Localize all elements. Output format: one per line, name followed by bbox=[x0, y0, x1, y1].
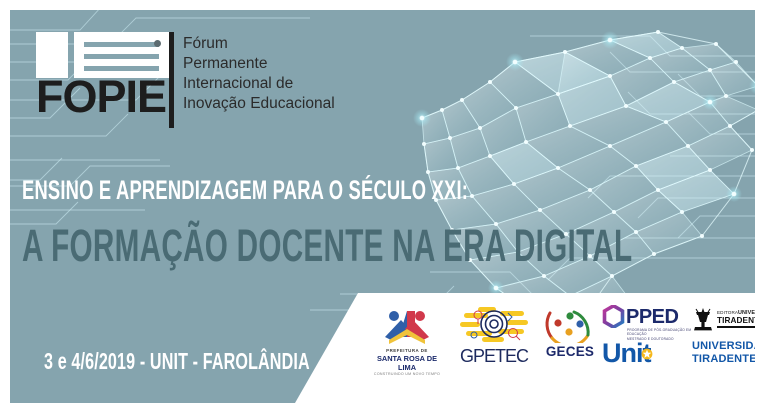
fopie-logo-mark: FOPIE bbox=[36, 32, 169, 118]
logo-divider bbox=[169, 32, 174, 128]
sponsor-logos: PREFEITURA DE SANTA ROSA DE LIMA CONSTRU… bbox=[362, 301, 755, 401]
prefeitura-line-3: CONSTRUINDO UM NOVO TEMPO bbox=[368, 372, 446, 377]
editora-big-line: TIRADENTES bbox=[717, 316, 755, 325]
fopie-name-line-3: Internacional de bbox=[183, 74, 335, 94]
sponsor-geces: GECES bbox=[534, 307, 606, 359]
fopie-name-line-1: Fórum bbox=[183, 34, 335, 54]
gpetec-wordmark: GPETEC bbox=[454, 346, 534, 367]
fopie-name-line-4: Inovação Educacional bbox=[183, 94, 335, 114]
headline-block: ENSINO E APRENDIZAGEM PARA O SÉCULO XXI:… bbox=[22, 175, 492, 271]
unit-star-icon bbox=[641, 337, 653, 349]
fopie-logo: FOPIE Fórum Permanente Internacional de … bbox=[36, 32, 335, 128]
editora-press-icon bbox=[692, 307, 714, 331]
geces-people-circle-icon bbox=[544, 307, 596, 343]
pped-hexagon-icon bbox=[602, 305, 625, 328]
sponsor-prefeitura-santa-rosa-de-lima: PREFEITURA DE SANTA ROSA DE LIMA CONSTRU… bbox=[368, 307, 446, 377]
geces-wordmark: GECES bbox=[534, 344, 606, 359]
fopie-wordmark: FOPIE bbox=[36, 76, 169, 118]
headline-line-2: A FORMAÇÃO DOCENTE NA ERA DIGITAL bbox=[22, 221, 332, 271]
event-dateline: 3 e 4/6/2019 - UNIT - FAROLÂNDIA bbox=[44, 348, 310, 375]
universidade-line-1: UNIVERSIDADE bbox=[692, 340, 755, 353]
sponsor-editora-universitaria-tiradentes: EDITORAUNIVERSITÁRIA TIRADENTES UNIVERSI… bbox=[692, 307, 755, 365]
editora-rule bbox=[717, 326, 755, 327]
universidade-line-2: TIRADENTES bbox=[692, 353, 755, 366]
universidade-tiradentes-name: UNIVERSIDADE TIRADENTES bbox=[692, 340, 755, 365]
poster-canvas: FOPIE Fórum Permanente Internacional de … bbox=[0, 0, 765, 413]
document-lines-icon bbox=[36, 32, 169, 78]
prefeitura-line-2: SANTA ROSA DE LIMA bbox=[368, 354, 446, 372]
fopie-full-name: Fórum Permanente Internacional de Inovaç… bbox=[183, 32, 335, 114]
pped-wordmark: PPED bbox=[626, 307, 678, 327]
headline-line-1: ENSINO E APRENDIZAGEM PARA O SÉCULO XXI: bbox=[22, 175, 342, 205]
unit-wordmark: Unit bbox=[602, 339, 650, 367]
fopie-name-line-2: Permanente bbox=[183, 54, 335, 74]
prefeitura-people-icon bbox=[379, 307, 435, 345]
gpetec-target-icon bbox=[458, 305, 530, 345]
sponsor-gpetec: GPETEC bbox=[454, 305, 534, 367]
poster-slate-panel: FOPIE Fórum Permanente Internacional de … bbox=[10, 10, 755, 403]
sponsor-unit: Unit bbox=[602, 339, 700, 367]
sponsor-pped: PPED PROGRAMA DE PÓS-GRADUAÇÃO EM EDUCAÇ… bbox=[602, 305, 700, 341]
logo-dot-icon bbox=[154, 40, 161, 47]
editora-small-a: EDITORA bbox=[717, 310, 738, 315]
pped-subtitle-1: PROGRAMA DE PÓS-GRADUAÇÃO EM EDUCAÇÃO bbox=[627, 328, 700, 337]
